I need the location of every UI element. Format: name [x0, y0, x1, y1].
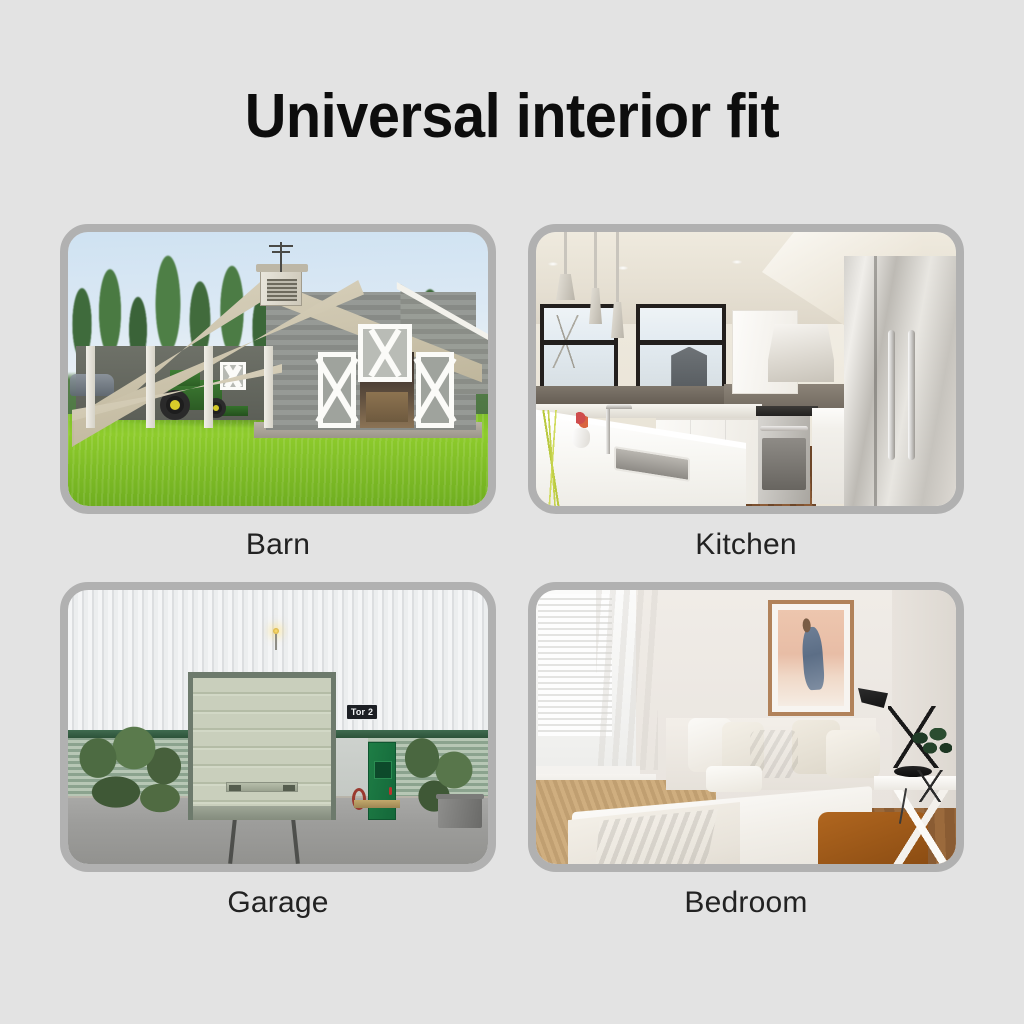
image-card-bedroom[interactable]	[528, 582, 964, 872]
caption-garage: Garage	[60, 886, 496, 920]
window-left	[540, 304, 618, 396]
framed-artwork	[768, 600, 854, 716]
porch-post	[146, 346, 155, 428]
porch-post	[264, 346, 273, 428]
barn-sliding-door-right	[416, 352, 454, 428]
caption-kitchen: Kitchen	[528, 528, 964, 562]
door-bottom-rail	[193, 806, 331, 820]
fridge-handle	[888, 330, 895, 460]
plant-stand	[912, 770, 948, 802]
range-hood	[768, 324, 834, 382]
vase	[572, 428, 590, 448]
garage-photo: Tor 2	[68, 590, 488, 864]
recessed-light-icon	[618, 266, 628, 270]
window-mullion	[544, 340, 614, 345]
image-card-garage[interactable]: Tor 2	[60, 582, 496, 872]
flower-arrangement	[576, 410, 588, 430]
shrub-left	[72, 722, 188, 818]
pillow	[826, 730, 880, 778]
door-handle	[389, 787, 392, 795]
fridge-handle	[908, 330, 915, 460]
potted-plant	[908, 728, 952, 774]
image-card-kitchen[interactable]	[528, 224, 964, 514]
pendant-light	[594, 232, 597, 290]
window-mullion	[640, 340, 722, 345]
caption-barn: Barn	[60, 528, 496, 562]
window-sill	[536, 766, 640, 774]
kitchen-photo	[536, 232, 956, 506]
cupola	[260, 270, 302, 306]
door-vent-plate	[226, 782, 298, 792]
gallery-item-kitchen[interactable]: Kitchen	[528, 224, 964, 562]
bedroom-photo	[536, 590, 956, 864]
sheer-curtain	[596, 590, 658, 770]
lumbar-pillow	[706, 766, 762, 792]
barn-photo	[68, 232, 488, 506]
bay-number-sign: Tor 2	[346, 704, 378, 720]
recessed-light-icon	[548, 262, 558, 266]
recessed-light-icon	[732, 260, 742, 264]
x-brace-icon	[323, 357, 351, 423]
barn-sliding-door-left	[318, 352, 356, 428]
artwork-figure	[801, 627, 825, 692]
porch-post	[204, 346, 213, 428]
caption-bedroom: Bedroom	[528, 886, 964, 920]
decorative-grass	[536, 410, 570, 506]
x-brace-icon	[363, 329, 407, 377]
oven-door	[762, 438, 806, 490]
gas-range	[758, 412, 810, 504]
weathervane-icon	[280, 242, 282, 272]
cooktop	[756, 406, 818, 416]
faucet-icon	[606, 408, 610, 454]
metal-bin	[438, 798, 482, 828]
fridge-door-seam	[874, 256, 877, 506]
image-card-barn[interactable]	[60, 224, 496, 514]
backsplash-left	[536, 386, 728, 406]
pendant-light	[616, 232, 619, 304]
hayloft-door	[358, 324, 412, 382]
page-title: Universal interior fit	[36, 86, 988, 148]
gallery-grid: Barn	[60, 224, 964, 940]
window-right	[636, 304, 726, 396]
x-brace-icon	[421, 357, 449, 423]
porch-post	[86, 346, 95, 428]
cupola-louver	[267, 279, 297, 301]
oven-handle	[760, 426, 808, 431]
door-threshold	[354, 800, 400, 808]
wall-lamp-icon	[273, 628, 279, 634]
pendant-light	[564, 232, 567, 276]
artwork-canvas	[778, 610, 844, 706]
stainless-refrigerator	[844, 256, 956, 506]
green-personnel-door[interactable]	[368, 742, 396, 820]
gallery-item-barn[interactable]: Barn	[60, 224, 496, 562]
gallery-item-garage[interactable]: Tor 2 Garage	[60, 582, 496, 920]
gallery-item-bedroom[interactable]: Bedroom	[528, 582, 964, 920]
roll-up-garage-door[interactable]	[193, 678, 331, 820]
